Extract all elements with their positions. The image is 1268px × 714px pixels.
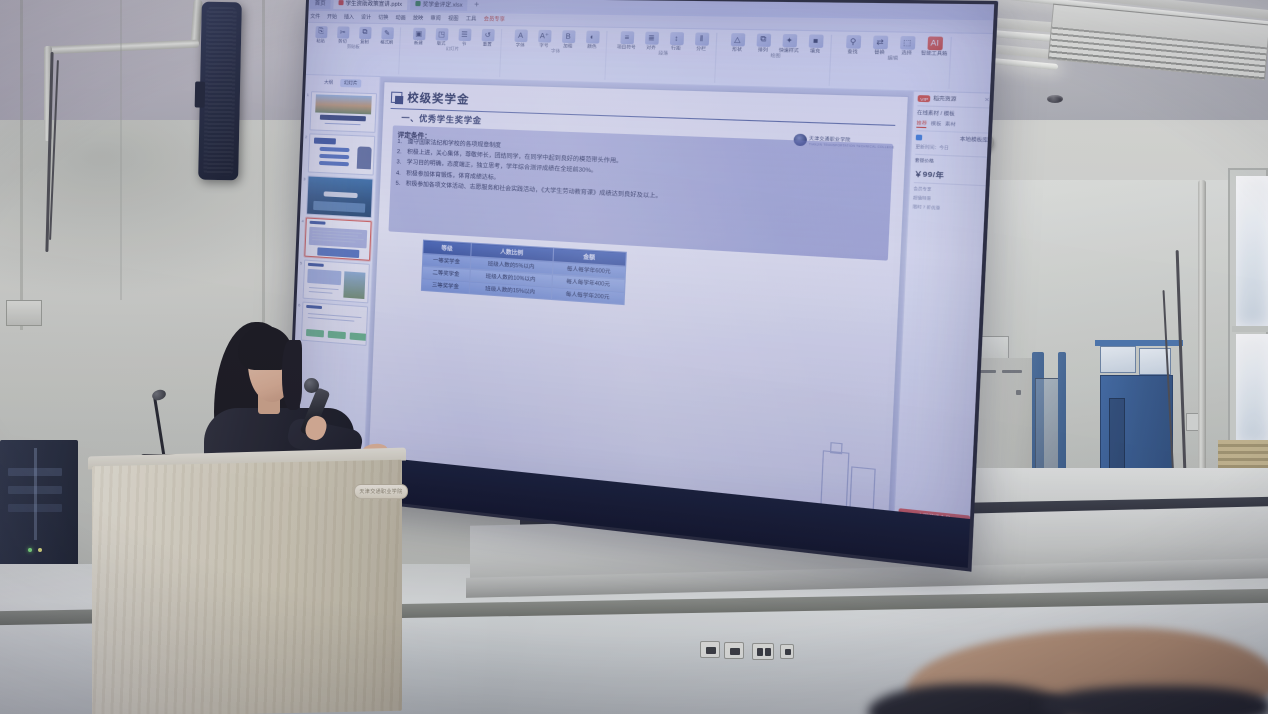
section-icon: ☰ (458, 28, 471, 41)
window-glass (1236, 334, 1268, 444)
ribbon-button-label: 智能工具箱 (921, 51, 948, 56)
bold-icon: B (561, 30, 575, 43)
ribbon-group-label: 段落 (658, 51, 668, 56)
menu-item-tools[interactable]: 工具 (466, 15, 477, 22)
align-button[interactable]: ≣对齐 (640, 32, 662, 51)
task-pane-title: 稻壳资源 (933, 96, 956, 103)
slide-thumbnail-4[interactable]: 4 (297, 217, 371, 261)
reset-button[interactable]: ↺重置 (477, 29, 498, 47)
menu-item-insert[interactable]: 插入 (344, 13, 354, 20)
task-pane-tabs: 推荐 模板 素材 (916, 120, 988, 133)
current-slide[interactable]: 校级奖学金 一、优秀学生奖学金 天津交通职业学院 TIANJIN TRANSPO… (367, 81, 909, 525)
ribbon-button-label: 节 (462, 42, 467, 46)
power-socket[interactable] (700, 641, 720, 658)
podium-nameplate-text: 天津交通职业学院 (359, 488, 402, 495)
ribbon-group-label: 剪贴板 (347, 45, 360, 50)
podium: 天津交通职业学院 (88, 452, 406, 714)
doc-tab-active-label: 学生资助政策宣讲.pptx (345, 0, 402, 7)
window-glass (1236, 176, 1268, 326)
ribbon-button-label: 颜色 (587, 44, 596, 49)
audience-shadow-foreground (1040, 686, 1268, 714)
tab-templates[interactable]: 模板 (931, 121, 942, 129)
font-size-icon: A⁺ (538, 30, 552, 43)
divider (914, 182, 986, 187)
replace-button[interactable]: ⇄替换 (868, 35, 892, 55)
menu-item-vip[interactable]: 会员专享 (484, 15, 506, 23)
microphone-head-icon (304, 378, 319, 393)
cut-button[interactable]: ✂剪切 (333, 26, 353, 44)
ribbon-button-label: 字号 (539, 43, 548, 48)
ribbon-button-label: 分栏 (696, 47, 706, 52)
arrange-button[interactable]: ⧉排列 (752, 33, 775, 52)
ribbon-button-label: 查找 (847, 50, 857, 55)
podium-wood-grain (92, 460, 402, 714)
slide-title: 校级奖学金 (407, 89, 470, 107)
condition-number: 5. (395, 180, 402, 187)
condition-number: 1. (397, 139, 404, 146)
ribbon-button-label: 替换 (874, 50, 885, 55)
bullets-button[interactable]: ≡项目符号 (616, 31, 638, 50)
font-icon: A (514, 29, 527, 42)
pptx-file-icon (338, 0, 343, 5)
slide-thumbnail-preview (306, 175, 373, 218)
local-templates-row[interactable]: 本地模板库 (916, 134, 988, 143)
status-led (28, 548, 32, 552)
ribbon-button-label: 项目符号 (617, 45, 636, 50)
ribbon-button-label: 格式刷 (380, 40, 393, 45)
xlsx-file-icon (415, 1, 420, 6)
divider (917, 105, 989, 109)
columns-icon: ‖ (694, 32, 708, 45)
line-spacing-icon: ↕ (669, 32, 683, 45)
font-button[interactable]: A字体 (510, 29, 531, 47)
doc-tab-home[interactable]: 首页 (310, 0, 331, 9)
font-size-button[interactable]: A⁺字号 (534, 30, 555, 48)
color-button[interactable]: ◐颜色 (581, 31, 603, 50)
ribbon-group-段落: ≡项目符号≣对齐↕行距‖分栏段落 (611, 31, 717, 83)
section-button[interactable]: ☰节 (454, 28, 475, 46)
find-icon: ⚲ (845, 35, 860, 49)
scholarship-table: 等级人数比例金额 一等奖学金班级人数的5%以内每人每学年600元二等奖学金班级人… (421, 240, 627, 306)
podium-nameplate: 天津交通职业学院 (354, 484, 408, 499)
folder-icon (916, 135, 923, 141)
slide-number: 2 (302, 133, 307, 139)
shapes-icon: △ (730, 33, 745, 46)
slide-thumbnail-preview (303, 260, 370, 304)
ai-icon: AI (927, 36, 943, 50)
select-button[interactable]: ⬚选择 (895, 36, 919, 56)
ribbon-button-label: 排列 (758, 48, 768, 53)
slide-thumbnail-1[interactable]: 1 (303, 91, 377, 133)
slide-thumbnail-preview (310, 91, 377, 133)
paste-icon: ⎘ (315, 26, 327, 38)
doc-tab-second-label: 奖学金评定.xlsx (422, 0, 462, 8)
arrange-icon: ⧉ (756, 33, 771, 46)
task-pane-search-title: 在线素材 / 模板 (917, 110, 989, 119)
menu-item-file[interactable]: 文件 (310, 13, 320, 20)
conditions-panel: 评定条件： 1.遵守国家法纪和学校的各项规章制度2.积极上进，关心集体，尊敬师长… (388, 125, 893, 260)
doc-tab-second[interactable]: 奖学金评定.xlsx (410, 0, 468, 11)
ribbon-group-编辑: ⚲查找⇄替换⬚选择AI智能工具箱编辑 (836, 35, 952, 89)
outline-tab[interactable]: 大纲 (320, 78, 337, 87)
ribbon-button-label: 粘贴 (316, 39, 324, 43)
fill-button[interactable]: ■填充 (804, 34, 828, 54)
ribbon-group-label: 绘图 (770, 54, 780, 59)
task-pane-header: VIP 稻壳资源 ✕ (918, 95, 990, 104)
slide-number: 5 (297, 259, 302, 265)
copy-button[interactable]: ⧉复制 (355, 27, 375, 45)
ribbon-button-label: 对齐 (646, 46, 656, 51)
ribbon-button-label: 行距 (671, 46, 681, 51)
ribbon-group-绘图: △形状⧉排列✦快速样式■填充绘图 (721, 33, 832, 86)
new-slide-icon: ▣ (412, 28, 425, 41)
presenter-hair-side (282, 340, 302, 410)
layout-icon: ◳ (435, 28, 448, 41)
condition-number: 4. (396, 170, 403, 177)
divider (915, 153, 987, 157)
wall-seam (120, 0, 122, 300)
replace-icon: ⇄ (872, 35, 887, 49)
menu-item-animations[interactable]: 动画 (395, 14, 406, 21)
menu-item-slideshow[interactable]: 放映 (413, 14, 424, 21)
ribbon-button-label: 快速样式 (779, 48, 799, 53)
window-mullion (1232, 326, 1268, 332)
menu-item-transitions[interactable]: 切换 (378, 14, 388, 21)
wall-speaker-left (198, 2, 242, 181)
select-icon: ⬚ (899, 36, 915, 50)
power-socket[interactable] (752, 643, 774, 660)
podium-front (92, 460, 402, 714)
field-label: 套餐价格 (915, 158, 987, 167)
table-cell: 三等奖学金 (421, 278, 469, 294)
slide-thumbnail-2[interactable]: 2 (301, 133, 375, 175)
format-painter-button[interactable]: ✎格式刷 (377, 27, 397, 45)
speaker-mount (195, 82, 206, 108)
slide-canvas-area[interactable]: 校级奖学金 一、优秀学生奖学金 天津交通职业学院 TIANJIN TRANSPO… (364, 77, 913, 530)
building-shape (820, 450, 849, 510)
speaker-grille (203, 7, 237, 176)
ribbon-group-幻灯片: ▣新建◳版式☰节↺重置幻灯片 (404, 28, 502, 78)
ribbon-group-label: 字体 (551, 49, 560, 54)
color-icon: ◐ (585, 31, 599, 44)
slide-thumbnail-preview (304, 218, 371, 261)
slide-thumbnail-3[interactable]: 3 (299, 175, 373, 218)
ribbon-group-label: 幻灯片 (446, 47, 459, 52)
shapes-button[interactable]: △形状 (726, 33, 749, 52)
ribbon-button-label: 复制 (360, 40, 369, 44)
power-socket[interactable] (724, 642, 744, 659)
close-icon[interactable]: ✕ (984, 97, 990, 104)
ribbon-button-label: 版式 (437, 41, 446, 46)
conduit-pipe (1198, 180, 1206, 500)
menu-item-design[interactable]: 设计 (361, 14, 371, 21)
ribbon-button-label: 形状 (732, 47, 742, 52)
slide-thumbnail-5[interactable]: 5 (296, 259, 370, 303)
slide-number: 4 (299, 217, 304, 223)
downlight-icon (1047, 95, 1063, 103)
note-b: 超值特惠 (913, 196, 985, 205)
door-transom (1100, 346, 1136, 373)
slide-subtitle: 一、优秀学生奖学金 (401, 112, 482, 126)
power-socket[interactable] (780, 644, 794, 659)
ribbon-button-label: 字体 (516, 43, 525, 48)
ribbon-group-字体: A字体A⁺字号B加粗◐颜色字体 (505, 29, 607, 80)
price-value: ￥99/年 (914, 167, 986, 181)
condition-number: 3. (396, 160, 403, 167)
cabinet-lock (1016, 390, 1021, 395)
menu-item-home[interactable]: 开始 (327, 13, 337, 20)
ribbon-button-label: 新建 (414, 41, 423, 45)
conditions-list: 1.遵守国家法纪和学校的各项规章制度2.积极上进，关心集体，尊敬师长，团结同学，… (395, 139, 886, 212)
tab-recommended[interactable]: 推荐 (916, 120, 927, 128)
ribbon-button-label: 加粗 (563, 44, 572, 49)
new-tab-button[interactable]: + (471, 0, 483, 9)
ribbon-button-label: 选择 (901, 51, 912, 56)
layout-button[interactable]: ◳版式 (431, 28, 451, 46)
slides-tab[interactable]: 幻灯片 (340, 79, 362, 88)
tab-materials[interactable]: 素材 (945, 121, 956, 129)
cabinet-vent (1002, 370, 1022, 373)
doc-tab-home-label: 首页 (315, 0, 326, 6)
slide-thumbnail-preview (308, 133, 375, 175)
note-c: 限时 7 折优惠 (912, 205, 984, 214)
thumbnail-pane-header: 大纲 幻灯片 (304, 78, 377, 90)
reset-icon: ↺ (481, 29, 494, 42)
ai-button[interactable]: AI智能工具箱 (922, 36, 947, 56)
building-shape (830, 442, 843, 454)
doc-tab-active[interactable]: 学生资助政策宣讲.pptx (333, 0, 407, 10)
meta-label: 更新时间：今日 (915, 144, 987, 152)
wall-seam (20, 0, 23, 330)
format-painter-icon: ✎ (381, 27, 394, 39)
rack-divider (34, 448, 37, 540)
status-led (38, 548, 42, 552)
paste-button[interactable]: ⎘粘贴 (311, 26, 330, 44)
bold-button[interactable]: B加粗 (557, 30, 579, 49)
square-bullet-icon (391, 91, 403, 103)
new-slide-button[interactable]: ▣新建 (409, 28, 429, 46)
quick-style-icon: ✦ (782, 34, 797, 48)
ribbon-group-剪贴板: ⎘粘贴✂剪切⧉复制✎格式刷剪贴板 (307, 26, 401, 75)
slide-title-row: 校级奖学金 (391, 89, 470, 108)
slide-number: 3 (301, 175, 306, 181)
find-button[interactable]: ⚲查找 (841, 35, 865, 55)
lecture-hall-photo: 首页 学生资助政策宣讲.pptx 奖学金评定.xlsx + 文件 开始 (0, 0, 1268, 714)
align-icon: ≣ (644, 32, 658, 45)
ribbon-button-label: 填充 (810, 49, 820, 54)
line-spacing-button[interactable]: ↕行距 (665, 32, 687, 51)
ribbon-group-label: 编辑 (887, 56, 898, 61)
fill-icon: ■ (808, 34, 823, 48)
slide-number: 6 (295, 301, 300, 307)
menu-item-review[interactable]: 审阅 (430, 15, 441, 22)
door-panel (1109, 398, 1125, 470)
ribbon-button-label: 剪切 (338, 39, 347, 43)
menu-item-view[interactable]: 视图 (448, 15, 459, 22)
wall-box (6, 300, 42, 326)
condition-number: 2. (397, 149, 404, 156)
vip-badge: VIP (918, 95, 931, 102)
columns-button[interactable]: ‖分栏 (690, 32, 713, 51)
bullets-icon: ≡ (620, 31, 634, 44)
copy-icon: ⧉ (359, 27, 372, 39)
quick-style-button[interactable]: ✦快速样式 (777, 34, 800, 53)
cut-icon: ✂ (337, 26, 349, 38)
slide-number: 1 (304, 91, 309, 97)
section-label: 本地模板库 (960, 136, 988, 144)
ribbon-button-label: 重置 (483, 42, 492, 47)
note-a: 会员专享 (913, 187, 985, 196)
